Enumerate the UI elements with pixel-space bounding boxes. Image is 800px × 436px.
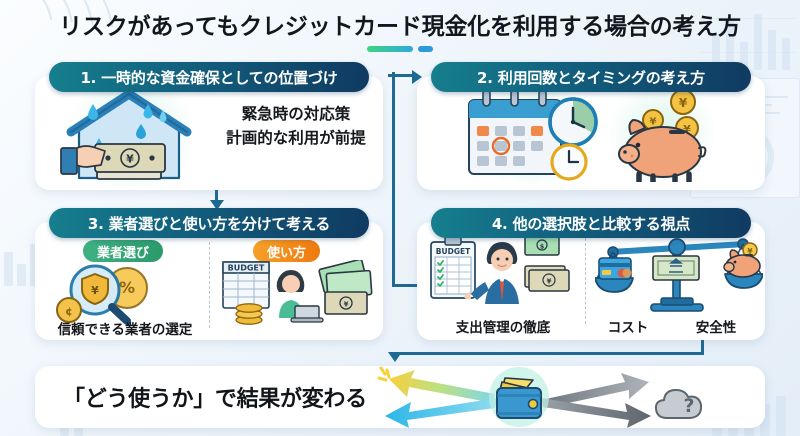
card-4-title-pill[interactable]: 4. 他の選択肢と比較する視点 xyxy=(431,208,751,238)
card-2-body: ¥ ¥ ¥ xyxy=(417,76,765,190)
yellow-arrow-up-left xyxy=(389,370,495,403)
page-title-bar: リスクがあってもクレジットカード現金化を利用する場合の考え方 xyxy=(0,0,800,58)
card-3-caption-vendor: 信頼できる業者の選定 xyxy=(45,318,205,338)
svg-text:BUDGET: BUDGET xyxy=(228,264,265,273)
card-1-text: 緊急時の対応策 計画的な利用が前提 xyxy=(221,102,371,150)
question-cloud-icon: ? xyxy=(656,390,701,418)
card-3-badge-vendor[interactable]: 業者選び xyxy=(83,240,163,262)
connector-segment xyxy=(392,72,395,286)
card-2[interactable]: ¥ ¥ ¥ xyxy=(417,76,765,190)
budget-spreadsheet-icon: BUDGET ¥ xyxy=(221,260,381,326)
card-4-caption-safety-text: 安全性 xyxy=(696,320,737,336)
svg-text:¥: ¥ xyxy=(679,96,688,110)
footer-banner[interactable]: 「どう使うか」で結果が変わる xyxy=(35,366,765,428)
svg-text:¥: ¥ xyxy=(91,284,99,297)
card-3-title-pill[interactable]: 3. 業者選びと使い方を分けて考える xyxy=(49,208,369,238)
magnifier-shield-yen-icon: % ¥ ¢ xyxy=(55,264,205,326)
calendar-icon xyxy=(465,86,605,182)
column-divider xyxy=(209,242,210,328)
card-3-body: 業者選び 使い方 % ¥ ¢ BUDGET xyxy=(35,222,383,340)
card-1[interactable]: ¥ 緊急時の対応策 計画的な利用が前提 xyxy=(35,76,383,190)
card-3-caption-vendor-text: 信頼できる業者の選定 xyxy=(58,322,193,338)
svg-text:¥: ¥ xyxy=(126,153,134,166)
card-3-badge-usage-label: 使い方 xyxy=(267,242,306,261)
page-title: リスクがあってもクレジットカード現金化を利用する場合の考え方 xyxy=(59,7,741,41)
card-4-caption-expense-text: 支出管理の徹底 xyxy=(456,320,551,336)
cyan-arrow-down-left xyxy=(385,398,497,428)
card-1-line-1: 緊急時の対応策 xyxy=(221,102,371,126)
card-3[interactable]: 業者選び 使い方 % ¥ ¢ BUDGET xyxy=(35,222,383,340)
svg-text:¢: ¢ xyxy=(65,305,73,318)
svg-text:$: $ xyxy=(540,243,545,251)
card-3-badge-usage[interactable]: 使い方 xyxy=(253,240,320,262)
svg-text:¥: ¥ xyxy=(344,301,349,309)
svg-text:?: ? xyxy=(683,395,694,417)
underline-dash-long xyxy=(367,46,413,52)
coin-stack-icon xyxy=(236,304,262,324)
arrow-head-down-icon xyxy=(388,352,402,362)
card-1-body: ¥ 緊急時の対応策 計画的な利用が前提 xyxy=(35,76,383,190)
person-laptop-icon xyxy=(277,270,323,322)
bg-bar-chart-left xyxy=(17,264,26,286)
card-4-caption-cost: コスト xyxy=(585,316,671,336)
balance-scale-icon: ¥ xyxy=(595,230,763,316)
bg-bar-chart-left xyxy=(4,252,13,286)
svg-text:%: % xyxy=(119,278,135,297)
underline-dash-short xyxy=(418,46,433,52)
svg-text:¥: ¥ xyxy=(650,117,657,128)
grey-arrow-down-right xyxy=(541,398,651,428)
card-4[interactable]: BUDGET xyxy=(417,222,765,340)
card-4-caption-cost-text: コスト xyxy=(608,320,649,336)
column-divider xyxy=(585,238,586,324)
card-3-title: 3. 業者選びと使い方を分けて考える xyxy=(88,213,330,234)
card-4-caption-safety: 安全性 xyxy=(673,316,759,336)
bg-bar-chart-bottom-right xyxy=(776,396,786,436)
budget-clipboard-icon: BUDGET xyxy=(425,234,585,312)
card-1-title-pill[interactable]: 1. 一時的な資金確保としての位置づけ xyxy=(49,62,369,92)
card-4-caption-expense: 支出管理の徹底 xyxy=(423,316,583,336)
svg-text:¥: ¥ xyxy=(547,278,552,286)
connector-segment xyxy=(394,352,704,355)
card-2-title: 2. 利用回数とタイミングの考え方 xyxy=(477,67,705,88)
infographic-canvas: リスクがあってもクレジットカード現金化を利用する場合の考え方 xyxy=(0,0,800,436)
credit-card-icon xyxy=(599,258,632,279)
card-3-badge-vendor-label: 業者選び xyxy=(97,242,149,261)
sparkle-icon xyxy=(379,368,389,380)
cash-bills-icon: ¥ xyxy=(319,260,372,314)
card-1-title: 1. 一時的な資金確保としての位置づけ xyxy=(80,67,337,88)
card-4-title: 4. 他の選択肢と比較する視点 xyxy=(492,213,690,234)
title-underline xyxy=(367,46,433,52)
svg-text:BUDGET: BUDGET xyxy=(436,247,471,256)
footer-text: 「どう使うか」で結果が変わる xyxy=(63,381,367,413)
card-4-body: BUDGET xyxy=(417,222,765,340)
leaking-house-icon: ¥ xyxy=(53,82,205,186)
card-1-line-2: 計画的な利用が前提 xyxy=(221,126,371,150)
piggy-bank-icon: ¥ ¥ ¥ xyxy=(605,86,725,182)
connector-card4-to-footer xyxy=(394,340,704,366)
card-2-title-pill[interactable]: 2. 利用回数とタイミングの考え方 xyxy=(431,62,751,92)
footer-arrows-diagram: ? xyxy=(345,366,755,428)
